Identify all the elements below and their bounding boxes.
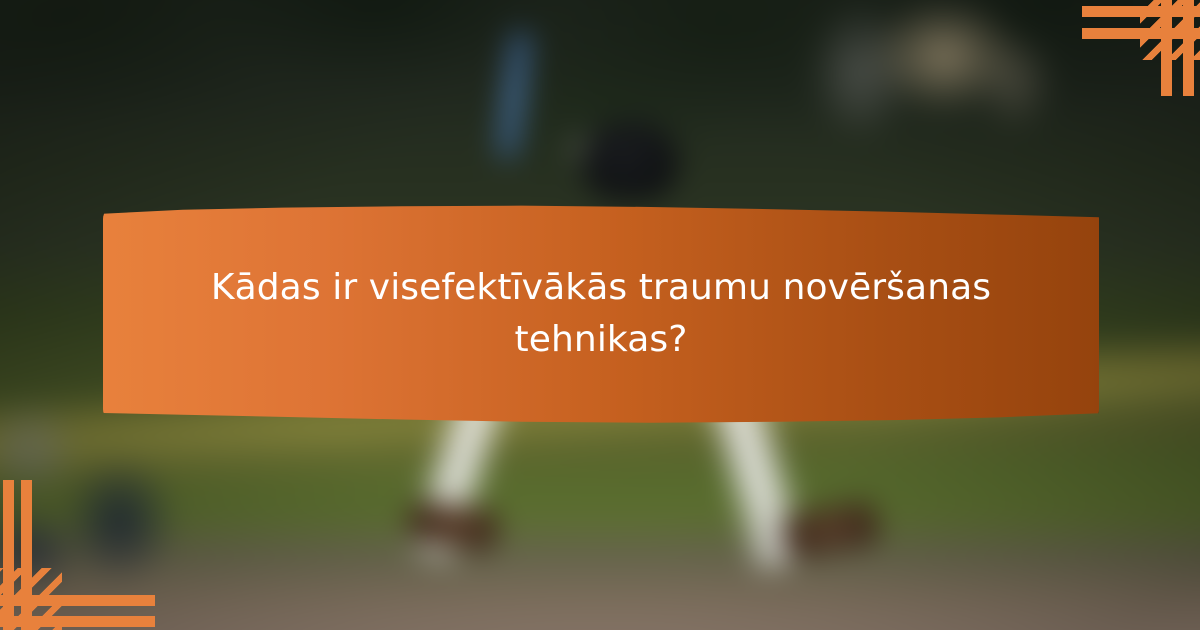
bottom-left-bar-horizontal-inner — [0, 595, 155, 606]
top-right-bracket-decoration — [1040, 0, 1200, 100]
top-right-bar-vertical-inner — [1161, 0, 1172, 96]
bottom-left-bar-vertical-outer — [3, 480, 14, 630]
top-right-bar-vertical-outer — [1183, 0, 1194, 96]
bottom-left-bracket-decoration — [0, 475, 165, 630]
bottom-left-bar-vertical-inner — [21, 480, 32, 630]
question-title: Kādas ir visefektīvākās traumu novēršana… — [161, 262, 1041, 366]
bottom-left-bar-horizontal-outer — [0, 616, 155, 627]
question-banner: Kādas ir visefektīvākās traumu novēršana… — [103, 205, 1099, 423]
share-card: Kādas ir visefektīvākās traumu novēršana… — [0, 0, 1200, 630]
